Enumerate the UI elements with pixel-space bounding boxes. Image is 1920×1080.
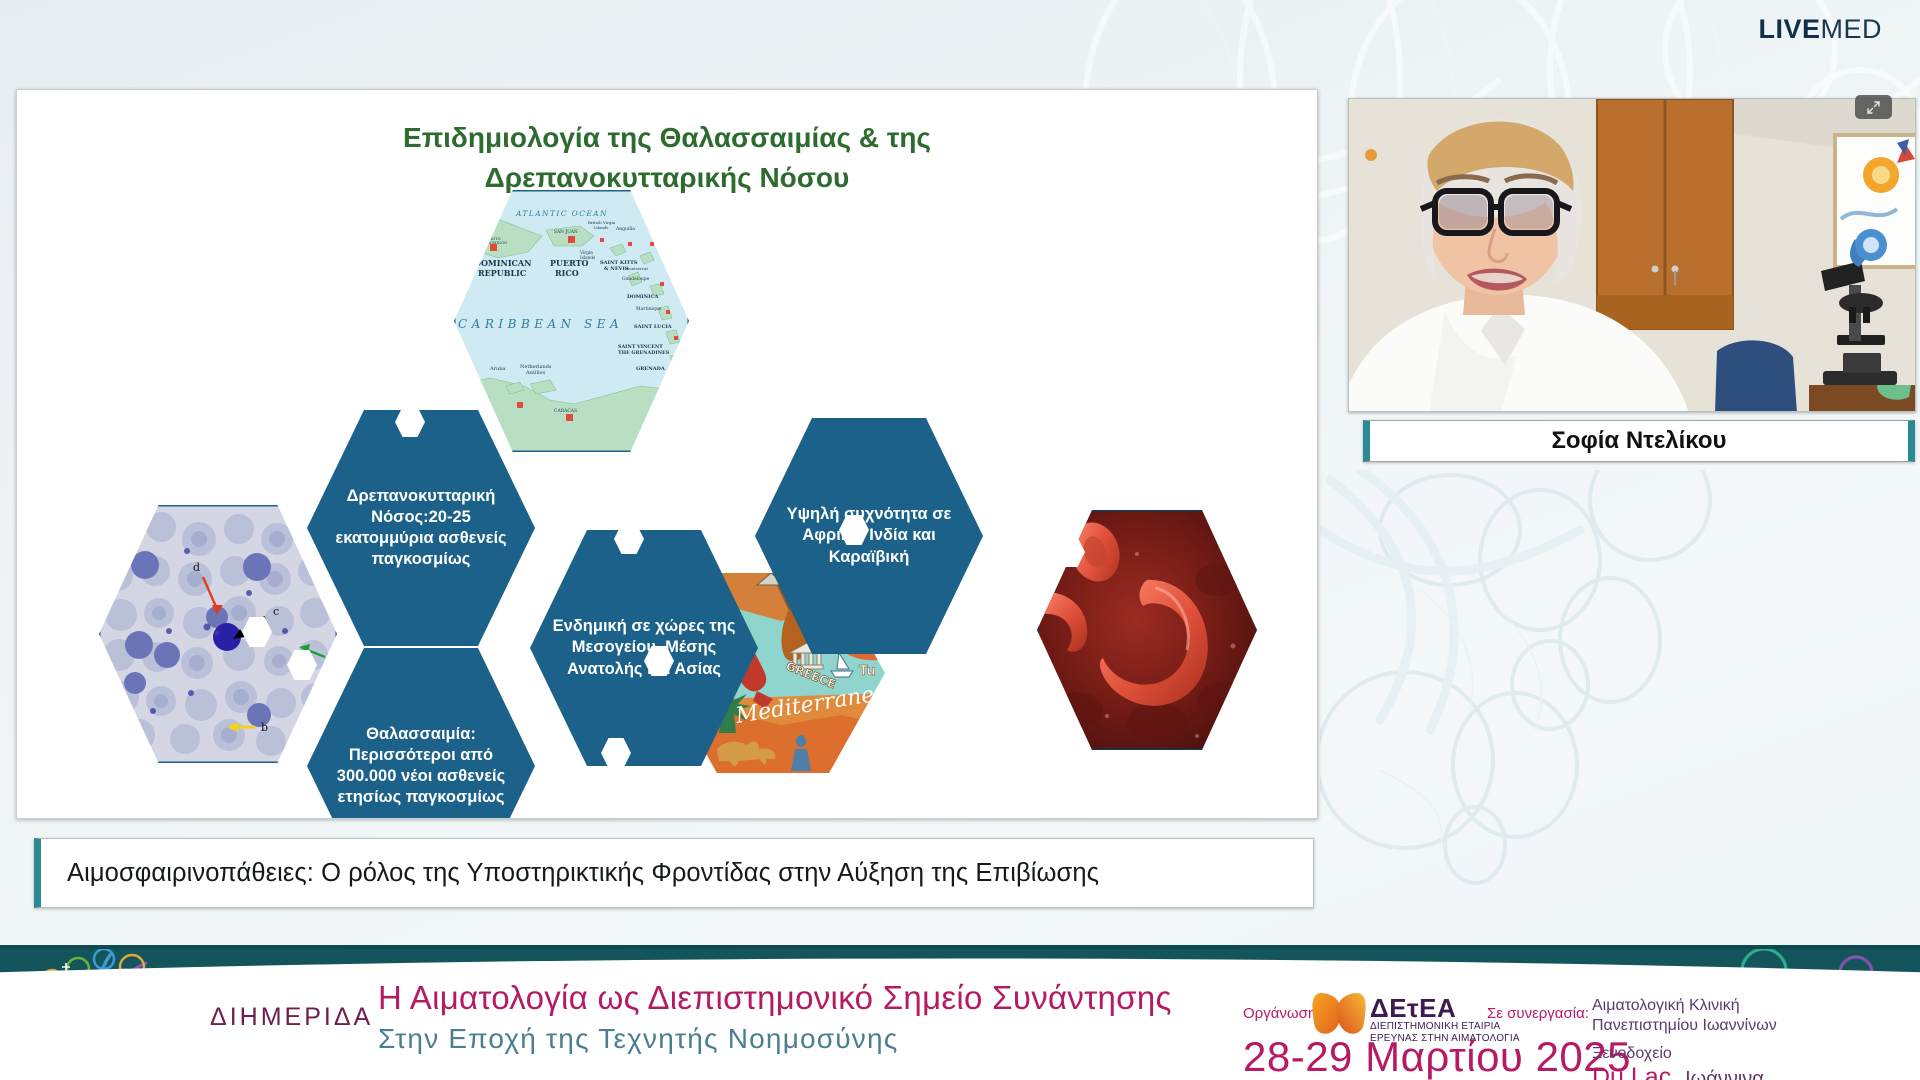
- event-dates: 28-29 Μαρτίου 2025: [1243, 1033, 1631, 1080]
- organizer-subtitle-line1: ΔΙΕΠΙΣΤΗΜΟΝΙΚΗ ΕΤΑΙΡΙΑ: [1370, 1021, 1500, 1032]
- slide-title: Επιδημιολογία της Θαλασσαιμίας & της Δρε…: [17, 118, 1317, 198]
- svg-text:Aruba: Aruba: [489, 366, 505, 372]
- svg-text:DOMINICA: DOMINICA: [627, 294, 658, 300]
- speaker-video-frame: [1349, 99, 1916, 412]
- session-title-bar: Αιμοσφαιρινοπάθειες: Ο ρόλος της Υποστηρ…: [34, 838, 1314, 908]
- hexagon-thalassemia-stat-label: Θαλασσαιμία: Περισσότεροι από 300.000 νέ…: [307, 648, 535, 819]
- watermark-right-graphic: [1320, 470, 1840, 930]
- hexagon-endemic-regions-label: Ενδημική σε χώρες της Μεσογείου, Μέσης Α…: [530, 530, 758, 766]
- svg-text:REPUBLIC: REPUBLIC: [478, 268, 526, 278]
- hexagon-high-frequency-regions-label: Υψηλή συχνότητα σε Αφρική, Ινδία και Καρ…: [755, 418, 983, 654]
- hexagon-thalassemia-stat: Θαλασσαιμία: Περισσότεροι από 300.000 νέ…: [307, 648, 535, 819]
- blood-smear-hex-shape: d c a b: [99, 505, 337, 763]
- svg-text:THE GRENADINES: THE GRENADINES: [618, 350, 670, 356]
- svg-text:GRENADA: GRENADA: [636, 366, 665, 372]
- svg-text:DOMINGO: DOMINGO: [487, 241, 507, 245]
- venue-name: Du Lac, Ιωάννινα: [1592, 1063, 1764, 1080]
- svg-text:c: c: [273, 605, 279, 618]
- cooperation-label: Σε συνεργασία:: [1487, 1005, 1589, 1022]
- expand-icon: [1866, 100, 1881, 115]
- hexagon-sickle-cell-stat-label: Δρεπανοκυτταρική Νόσος:20-25 εκατομμύρια…: [307, 410, 535, 646]
- svg-text:Martinique: Martinique: [636, 306, 662, 312]
- svg-text:Islands: Islands: [580, 255, 595, 260]
- livemed-logo: LIVEMED: [1758, 14, 1882, 45]
- fullscreen-button[interactable]: [1855, 95, 1892, 119]
- slide-title-line1: Επιδημιολογία της Θαλασσαιμίας & της: [17, 118, 1317, 158]
- session-title-text: Αιμοσφαιρινοπάθειες: Ο ρόλος της Υποστηρ…: [41, 859, 1099, 888]
- hexagon-high-frequency-regions: Υψηλή συχνότητα σε Αφρική, Ινδία και Καρ…: [755, 418, 983, 654]
- clinic-line2: Πανεπιστημίου Ιωαννίνων: [1592, 1017, 1777, 1035]
- event-kind-label: ΔΙΗΜΕΡΙΔΑ: [210, 1003, 373, 1032]
- svg-text:SAN JUAN: SAN JUAN: [554, 230, 578, 235]
- footer-top-rule: [0, 945, 1920, 949]
- svg-text:SAINT LUCIA: SAINT LUCIA: [634, 324, 672, 330]
- venue-label: Ξενοδοχείο: [1592, 1045, 1672, 1063]
- clinic-line1: Αιματολογική Κλινική: [1592, 997, 1740, 1015]
- svg-text:Guadeloupe: Guadeloupe: [622, 276, 650, 282]
- organizer-label: Οργάνωση:: [1243, 1005, 1320, 1022]
- speaker-name: Σοφία Ντελίκου: [1552, 427, 1727, 455]
- svg-text:Tu: Tu: [859, 664, 876, 679]
- svg-text:ATLANTIC OCEAN: ATLANTIC OCEAN: [515, 209, 608, 218]
- svg-text:b: b: [261, 721, 268, 734]
- livemed-logo-bold: LIVE: [1758, 14, 1820, 45]
- venue-city-text: Ιωάννινα: [1685, 1068, 1764, 1080]
- svg-text:d: d: [193, 561, 200, 574]
- svg-text:Islands: Islands: [594, 225, 609, 230]
- conference-title-line2: Στην Εποχή της Τεχνητής Νοημοσύνης: [378, 1023, 898, 1055]
- svg-text:Antilles: Antilles: [525, 370, 546, 376]
- hexagon-sickle-cell-stat: Δρεπανοκυτταρική Νόσος:20-25 εκατομμύρια…: [307, 410, 535, 646]
- blood-smear-image: d c a b: [99, 505, 337, 763]
- svg-text:Montserrat: Montserrat: [625, 266, 648, 271]
- speaker-name-bar: Σοφία Ντελίκου: [1363, 420, 1915, 462]
- slide-panel: Επιδημιολογία της Θαλασσαιμίας & της Δρε…: [16, 89, 1318, 819]
- hexagon-endemic-regions: Ενδημική σε χώρες της Μεσογείου, Μέσης Α…: [530, 530, 758, 766]
- venue-name-text: Du Lac,: [1592, 1063, 1678, 1080]
- blood-smear-hexagon: d c a b: [99, 505, 337, 763]
- organizer-acronym: ΔΕτΕΑ: [1370, 993, 1456, 1024]
- svg-text:DOMINICAN: DOMINICAN: [474, 258, 531, 268]
- conference-title-line1: Η Αιματολογία ως Διεπιστημονικό Σημείο Σ…: [378, 979, 1172, 1017]
- svg-text:Anguilla: Anguilla: [615, 226, 635, 232]
- livemed-logo-light: MED: [1821, 14, 1883, 45]
- svg-text:CARACAS: CARACAS: [554, 408, 577, 414]
- svg-text:RICO: RICO: [555, 268, 579, 278]
- conference-footer: ΔΙΗΜΕΡΙΔΑ Η Αιματολογία ως Διεπιστημονικ…: [0, 945, 1920, 1080]
- speaker-video[interactable]: [1348, 98, 1916, 412]
- svg-text:CARIBBEAN SEA: CARIBBEAN SEA: [458, 317, 623, 331]
